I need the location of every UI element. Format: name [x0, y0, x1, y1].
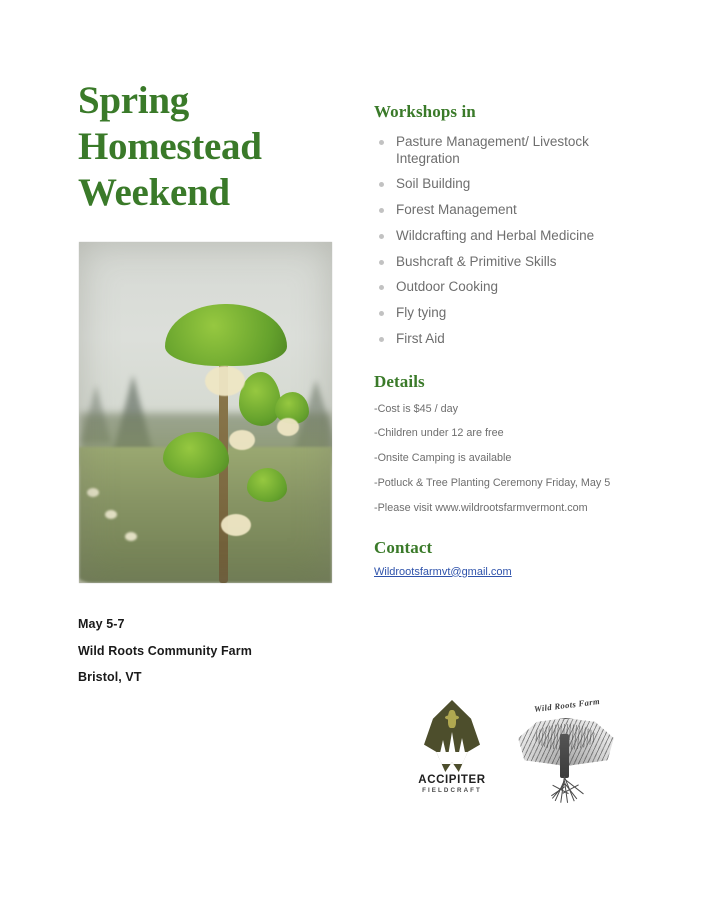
workshops-heading: Workshops in [374, 102, 626, 122]
list-item: Outdoor Cooking [374, 279, 626, 296]
list-item: Wildcrafting and Herbal Medicine [374, 228, 626, 245]
accipiter-tagline: FIELDCRAFT [410, 787, 494, 794]
detail-item: -Children under 12 are free [374, 427, 626, 441]
accipiter-fieldcraft-logo: ACCIPITER FIELDCRAFT [410, 700, 494, 800]
detail-item: -Potluck & Tree Planting Ceremony Friday… [374, 477, 626, 491]
detail-item: -Please visit www.wildrootsfarmvermont.c… [374, 502, 626, 516]
wild-roots-farm-logo: Wild Roots Farm [508, 698, 624, 803]
title-line-1: Spring [78, 78, 340, 124]
list-item: Soil Building [374, 176, 626, 193]
arrowhead-icon [424, 700, 480, 772]
sponsor-logos: ACCIPITER FIELDCRAFT Wild Roots Farm [396, 698, 636, 803]
title-line-3: Weekend [78, 170, 340, 216]
photo-canvas [79, 242, 332, 583]
title-line-2: Homestead [78, 124, 340, 170]
event-date: May 5-7 [78, 618, 358, 631]
conifer-icon [457, 738, 467, 762]
conifer-trees-icon [436, 728, 468, 762]
flyer-header: Spring Homestead Weekend [78, 78, 340, 216]
hawk-icon [448, 710, 456, 728]
flyer-page: Spring Homestead Weekend [0, 0, 706, 908]
page-title: Spring Homestead Weekend [78, 78, 340, 216]
workshops-list: Pasture Management/ Livestock Integratio… [374, 134, 626, 348]
hero-photo [79, 242, 332, 583]
event-info: May 5-7 Wild Roots Community Farm Bristo… [78, 618, 358, 698]
details-list: -Cost is $45 / day -Children under 12 ar… [374, 403, 626, 516]
contact-heading: Contact [374, 538, 626, 558]
list-item: Forest Management [374, 202, 626, 219]
list-item: Fly tying [374, 305, 626, 322]
tree-trunk-icon [560, 734, 569, 778]
conifer-icon [447, 732, 457, 762]
list-item: Bushcraft & Primitive Skills [374, 254, 626, 271]
wild-roots-wordmark: Wild Roots Farm [520, 694, 615, 715]
details-heading: Details [374, 372, 626, 392]
event-venue: Wild Roots Community Farm [78, 645, 358, 658]
flyer-content: Workshops in Pasture Management/ Livesto… [374, 102, 626, 580]
event-location: Bristol, VT [78, 671, 358, 684]
detail-item: -Onsite Camping is available [374, 452, 626, 466]
list-item: First Aid [374, 331, 626, 348]
accipiter-wordmark: ACCIPITER [410, 774, 494, 786]
detail-item: -Cost is $45 / day [374, 403, 626, 417]
photo-vignette [79, 242, 332, 583]
contact-email-link[interactable]: Wildrootsfarmvt@gmail.com [374, 566, 512, 578]
list-item: Pasture Management/ Livestock Integratio… [374, 134, 626, 167]
